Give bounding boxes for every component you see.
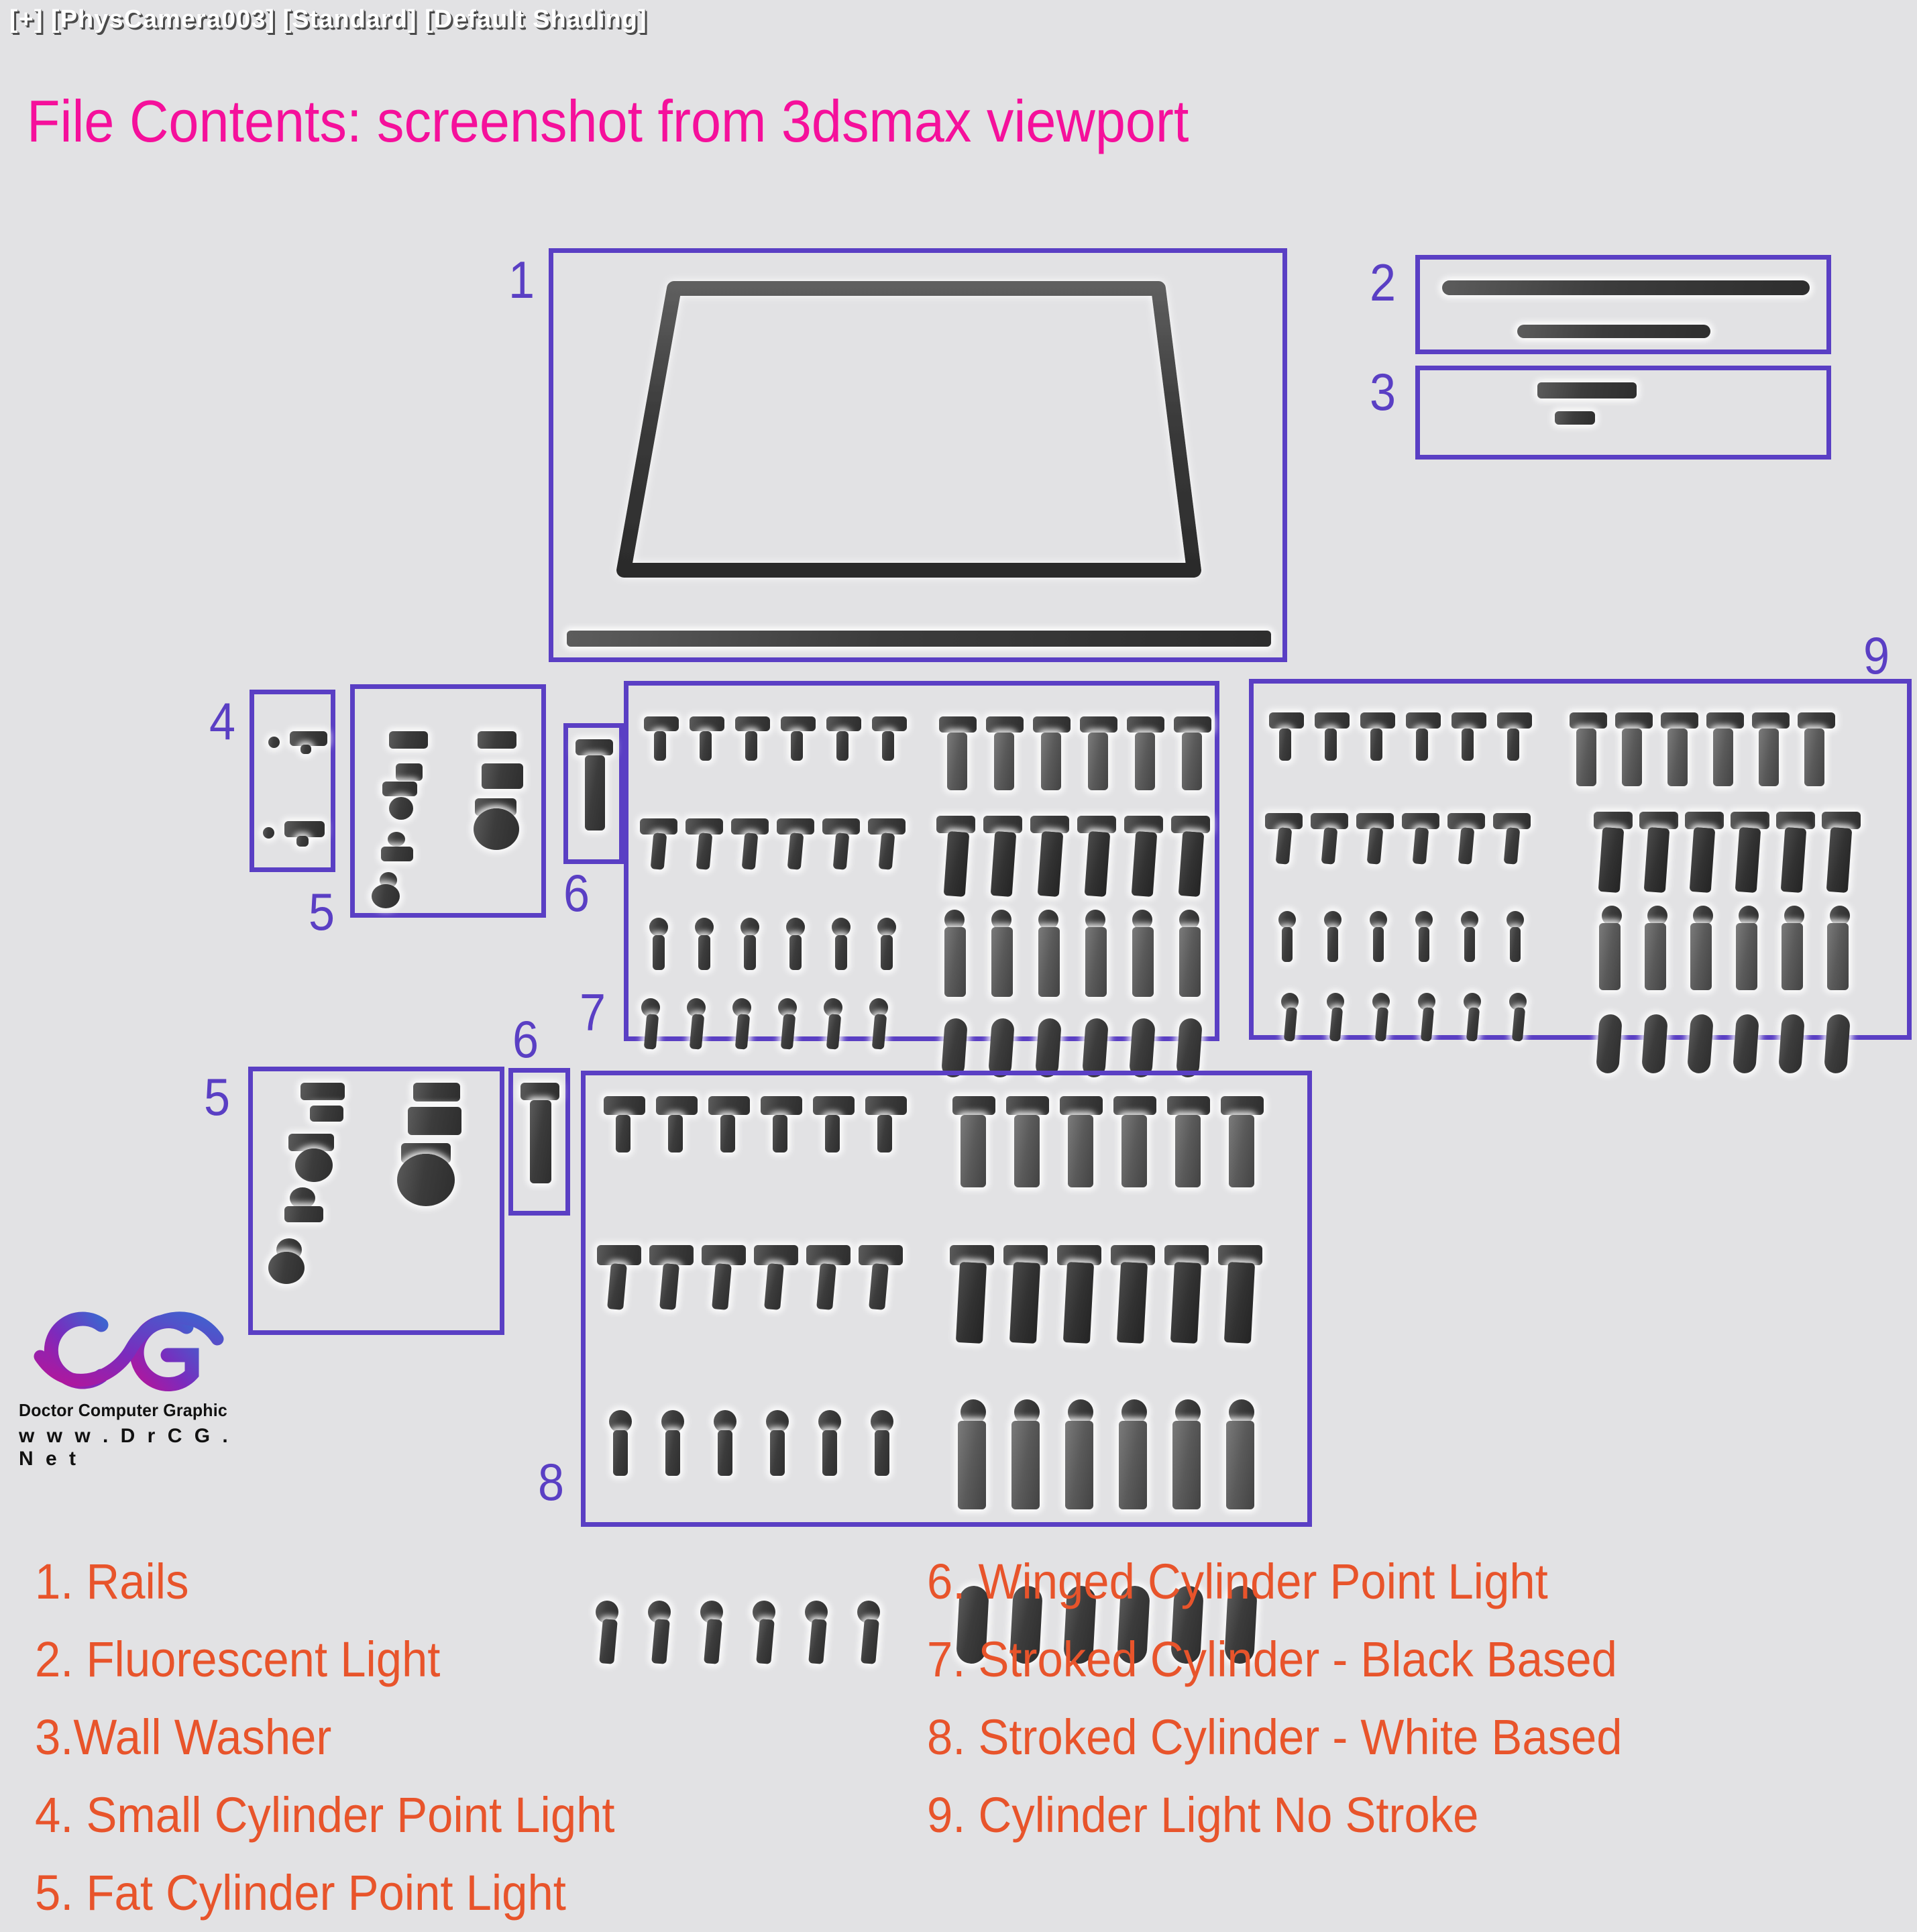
legend-item: 1. Rails	[35, 1543, 815, 1621]
legend-item: 8. Stroked Cylinder - White Based	[927, 1699, 1825, 1776]
legend-item: 4. Small Cylinder Point Light	[35, 1776, 815, 1854]
light-sphere	[649, 918, 668, 936]
light-head	[1311, 813, 1348, 829]
light-body	[1179, 927, 1201, 997]
light-head	[1171, 816, 1210, 833]
light-body	[825, 1115, 840, 1152]
light-body	[1622, 729, 1642, 786]
light-body	[1132, 927, 1154, 997]
light-capsule	[988, 1018, 1015, 1078]
light-body	[944, 927, 966, 997]
light-head	[1497, 712, 1532, 729]
light-body	[1370, 729, 1382, 761]
light-head	[1124, 816, 1163, 833]
light-body	[1065, 1421, 1093, 1509]
small-point-light-dot-top	[268, 737, 280, 748]
light-body	[668, 1115, 683, 1152]
annotation-label-5: 5	[309, 885, 335, 938]
light-body	[1826, 827, 1853, 893]
light-head	[754, 1245, 798, 1265]
legend-item: 3.Wall Washer	[35, 1699, 815, 1776]
light-head	[1402, 813, 1439, 829]
annotation-box-7	[624, 681, 1219, 1041]
light-body	[826, 1014, 841, 1049]
light-body	[875, 1430, 889, 1476]
light-head	[731, 818, 769, 835]
light-body	[1172, 1421, 1201, 1509]
light-head	[1060, 1096, 1103, 1115]
annotation-box-2	[1415, 255, 1831, 354]
annotation-label-9: 9	[1863, 629, 1889, 682]
light-head	[1356, 813, 1394, 829]
light-body	[1690, 923, 1712, 990]
legend-item: 2. Fluorescent Light	[35, 1621, 815, 1699]
logo-url: w w w . D r C G . N e t	[19, 1425, 240, 1470]
light-body	[644, 1014, 659, 1049]
light-body	[958, 1421, 986, 1509]
fat-point-light-head-e2	[413, 1083, 460, 1102]
light-body	[1576, 729, 1596, 786]
light-head	[986, 716, 1024, 733]
small-point-light-stem-bottom	[296, 836, 309, 847]
light-sphere	[1507, 911, 1524, 928]
light-head	[761, 1096, 802, 1115]
wall-washer-bar	[1537, 382, 1637, 398]
light-body	[1736, 923, 1757, 990]
small-point-light-stem-top	[300, 745, 311, 754]
light-body	[700, 731, 712, 761]
annotation-label-7: 7	[580, 986, 606, 1038]
light-sphere	[741, 918, 759, 936]
light-head	[822, 818, 860, 835]
annotation-box-3	[1415, 366, 1831, 460]
light-body	[1735, 827, 1761, 893]
light-head	[1077, 816, 1116, 833]
light-sphere	[1278, 911, 1296, 928]
light-head	[781, 716, 816, 731]
light-body	[1175, 1115, 1201, 1187]
light-body	[1170, 1262, 1201, 1344]
winged-light-head-bottom	[521, 1083, 559, 1100]
light-body	[1416, 729, 1428, 761]
light-sphere	[1370, 911, 1387, 928]
light-head	[640, 818, 677, 835]
light-body	[956, 1262, 987, 1344]
light-head	[1033, 716, 1071, 733]
light-body	[1645, 923, 1666, 990]
light-head	[690, 716, 724, 731]
small-point-light-head-bottom	[284, 821, 325, 837]
legend-right-column: 6. Winged Cylinder Point Light 7. Stroke…	[927, 1543, 1893, 1854]
light-head	[939, 716, 977, 733]
light-head	[983, 816, 1022, 833]
fat-point-light-base-d	[372, 884, 400, 908]
light-head	[708, 1096, 750, 1115]
fat-point-light-sphere-f	[474, 808, 519, 850]
wall-washer-block	[1555, 411, 1595, 425]
light-head	[1315, 712, 1350, 729]
light-body	[836, 731, 848, 761]
light-body	[1085, 927, 1107, 997]
annotation-label-4: 4	[209, 695, 235, 747]
light-head	[1639, 812, 1678, 829]
light-body	[1224, 1262, 1255, 1344]
annotation-label-6: 6	[563, 867, 590, 919]
light-head	[1752, 712, 1790, 729]
light-head	[1167, 1096, 1210, 1115]
fat-point-light-body-a2	[310, 1106, 343, 1122]
light-body	[1713, 729, 1733, 786]
light-body	[1014, 1115, 1040, 1187]
light-head	[865, 1096, 907, 1115]
light-body	[1419, 927, 1429, 962]
light-head	[735, 716, 770, 731]
light-body	[1088, 733, 1108, 790]
fat-point-light-head-a	[389, 731, 428, 749]
light-head	[1776, 812, 1815, 829]
light-sphere	[1461, 911, 1478, 928]
logo-tagline: Doctor Computer Graphic	[19, 1400, 231, 1421]
light-body	[944, 831, 970, 897]
light-head	[1127, 716, 1164, 733]
light-sphere	[818, 1410, 841, 1433]
light-head	[1685, 812, 1724, 829]
light-head	[1615, 712, 1653, 729]
light-capsule	[1778, 1014, 1805, 1074]
light-body	[1132, 831, 1158, 897]
light-head	[868, 818, 906, 835]
light-capsule	[1035, 1018, 1062, 1078]
light-head	[1493, 813, 1531, 829]
light-body	[1690, 827, 1716, 893]
light-body	[881, 935, 893, 970]
light-capsule	[1824, 1014, 1851, 1074]
light-body	[1135, 733, 1155, 790]
fat-point-light-sphere-b	[389, 797, 413, 820]
light-sphere	[609, 1410, 632, 1433]
light-body	[654, 731, 666, 761]
light-head	[1661, 712, 1698, 729]
light-head	[872, 716, 907, 731]
light-head	[859, 1245, 903, 1265]
light-body	[698, 935, 710, 970]
annotation-box-8	[581, 1071, 1312, 1527]
drcg-logo: Doctor Computer Graphic w w w . D r C G …	[19, 1307, 240, 1470]
light-body	[1226, 1421, 1254, 1509]
light-head	[777, 818, 814, 835]
light-head	[1360, 712, 1395, 729]
light-body	[1041, 733, 1061, 790]
light-capsule	[1641, 1014, 1668, 1074]
light-body	[1119, 1421, 1147, 1509]
light-body	[1121, 1115, 1147, 1187]
fat-point-light-sphere-b2	[295, 1148, 333, 1182]
light-sphere	[766, 1410, 789, 1433]
light-body	[690, 1014, 704, 1049]
light-body	[1229, 1115, 1254, 1187]
light-body	[991, 831, 1017, 897]
light-body	[872, 1014, 887, 1049]
light-body	[961, 1115, 986, 1187]
light-sphere	[786, 918, 805, 936]
light-head	[1798, 712, 1835, 729]
legend-item: 9. Cylinder Light No Stroke	[927, 1776, 1825, 1854]
light-head	[1113, 1096, 1156, 1115]
annotation-label-1: 1	[508, 254, 535, 306]
light-body	[1063, 1262, 1094, 1344]
light-sphere	[714, 1410, 736, 1433]
light-body	[1782, 923, 1803, 990]
light-body	[1011, 1421, 1040, 1509]
annotation-label-5b: 5	[204, 1071, 230, 1123]
legend-left-column: 1. Rails 2. Fluorescent Light 3.Wall Was…	[35, 1543, 873, 1932]
light-head	[813, 1096, 855, 1115]
light-body	[1179, 831, 1205, 897]
annotation-label-6b: 6	[512, 1013, 539, 1065]
light-body	[781, 1014, 796, 1049]
light-body	[1644, 827, 1670, 893]
light-body	[1464, 927, 1475, 962]
light-body	[1804, 729, 1824, 786]
light-head	[1174, 716, 1211, 733]
light-head	[604, 1096, 645, 1115]
fat-point-light-head-e	[478, 731, 516, 749]
light-sphere	[695, 918, 714, 936]
light-body	[1599, 923, 1621, 990]
light-body	[1182, 733, 1202, 790]
page-title: File Contents: screenshot from 3dsmax vi…	[27, 87, 1189, 156]
rails-straight-bar	[567, 631, 1271, 647]
small-point-light-head-top	[290, 731, 327, 746]
light-body	[718, 1430, 732, 1476]
light-head	[1822, 812, 1861, 829]
light-body	[770, 1430, 785, 1476]
light-body	[822, 1430, 837, 1476]
light-body	[1759, 729, 1779, 786]
winged-light-head-top	[576, 739, 613, 755]
annotation-label-8: 8	[538, 1456, 564, 1508]
light-capsule	[1596, 1014, 1623, 1074]
light-body	[1327, 927, 1338, 962]
light-body	[1038, 831, 1064, 897]
light-head	[702, 1245, 746, 1265]
light-body	[1279, 729, 1291, 761]
light-body	[991, 927, 1013, 997]
light-body	[791, 731, 803, 761]
light-body	[1667, 729, 1688, 786]
light-head	[649, 1245, 694, 1265]
light-head	[1006, 1096, 1049, 1115]
light-head	[806, 1245, 851, 1265]
small-point-light-dot-bottom	[263, 827, 274, 839]
light-head	[656, 1096, 698, 1115]
light-head	[936, 816, 975, 833]
light-capsule	[941, 1018, 968, 1078]
light-sphere	[1324, 911, 1341, 928]
light-body	[773, 1115, 787, 1152]
fat-point-light-sphere-c	[388, 832, 405, 847]
rails-trapezoid-frame	[567, 262, 1271, 617]
light-body	[735, 1014, 750, 1049]
light-capsule	[1733, 1014, 1759, 1074]
light-head	[1706, 712, 1744, 729]
fluorescent-tube-long	[1442, 280, 1810, 295]
light-sphere	[871, 1410, 893, 1433]
light-body	[1510, 927, 1521, 962]
annotation-label-2: 2	[1370, 256, 1396, 309]
light-body	[1085, 831, 1111, 897]
fat-point-light-sphere-f2	[397, 1154, 455, 1206]
fat-point-light-body-e	[482, 763, 523, 789]
light-body	[665, 1430, 680, 1476]
light-body	[877, 1115, 892, 1152]
light-body	[994, 733, 1014, 790]
fat-point-light-base-d2	[268, 1252, 305, 1284]
legend-item: 5. Fat Cylinder Point Light	[35, 1854, 815, 1932]
light-head	[1594, 812, 1633, 829]
light-head	[952, 1096, 995, 1115]
light-body	[1282, 927, 1293, 962]
light-body	[613, 1430, 628, 1476]
light-body	[789, 935, 802, 970]
light-body	[720, 1115, 735, 1152]
light-body	[947, 733, 967, 790]
light-body	[616, 1115, 631, 1152]
winged-light-body-bottom	[530, 1100, 551, 1183]
light-sphere	[877, 918, 896, 936]
light-body	[1373, 927, 1384, 962]
light-head	[1269, 712, 1304, 729]
light-head	[1452, 712, 1486, 729]
light-head	[1221, 1096, 1264, 1115]
viewport-label: [+] [PhysCamera003] [Standard] [Default …	[9, 5, 647, 34]
light-body	[1598, 827, 1625, 893]
light-body	[1827, 923, 1849, 990]
legend-item: 6. Winged Cylinder Point Light	[927, 1543, 1825, 1621]
light-body	[1038, 927, 1060, 997]
fat-point-light-cap-b	[382, 782, 417, 796]
light-body	[835, 935, 847, 970]
light-head	[1570, 712, 1607, 729]
fat-point-light-body-a	[396, 763, 423, 781]
annotation-box-5b	[248, 1067, 504, 1335]
light-head	[1265, 813, 1303, 829]
light-body	[653, 935, 665, 970]
fat-point-light-base-c2	[284, 1206, 323, 1222]
light-head	[1406, 712, 1441, 729]
light-head	[686, 818, 723, 835]
light-capsule	[1129, 1018, 1156, 1078]
light-head	[1030, 816, 1069, 833]
fat-point-light-head-a2	[300, 1083, 345, 1100]
light-head	[1447, 813, 1485, 829]
legend-item: 7. Stroked Cylinder - Black Based	[927, 1621, 1825, 1699]
light-body	[1462, 729, 1474, 761]
light-body	[1507, 729, 1519, 761]
light-body	[744, 935, 756, 970]
light-capsule	[1082, 1018, 1109, 1078]
light-sphere	[832, 918, 851, 936]
annotation-box-4	[250, 690, 335, 872]
light-body	[1117, 1262, 1148, 1344]
light-sphere	[1415, 911, 1433, 928]
light-body	[1325, 729, 1337, 761]
light-head	[597, 1245, 641, 1265]
fat-point-light-body-e2	[408, 1107, 461, 1135]
fluorescent-tube-short	[1517, 325, 1710, 338]
light-body	[1781, 827, 1807, 893]
light-body	[745, 731, 757, 761]
fat-point-light-base-c	[381, 847, 413, 861]
cg-monogram-icon	[19, 1307, 240, 1394]
light-head	[826, 716, 861, 731]
light-capsule	[1687, 1014, 1714, 1074]
light-body	[1068, 1115, 1093, 1187]
light-body	[1009, 1262, 1040, 1344]
light-head	[644, 716, 679, 731]
light-head	[1731, 812, 1769, 829]
light-body	[882, 731, 894, 761]
light-head	[1080, 716, 1117, 733]
light-sphere	[661, 1410, 684, 1433]
annotation-label-3: 3	[1370, 366, 1396, 418]
winged-light-body-top	[585, 755, 605, 830]
light-capsule	[1176, 1018, 1203, 1078]
